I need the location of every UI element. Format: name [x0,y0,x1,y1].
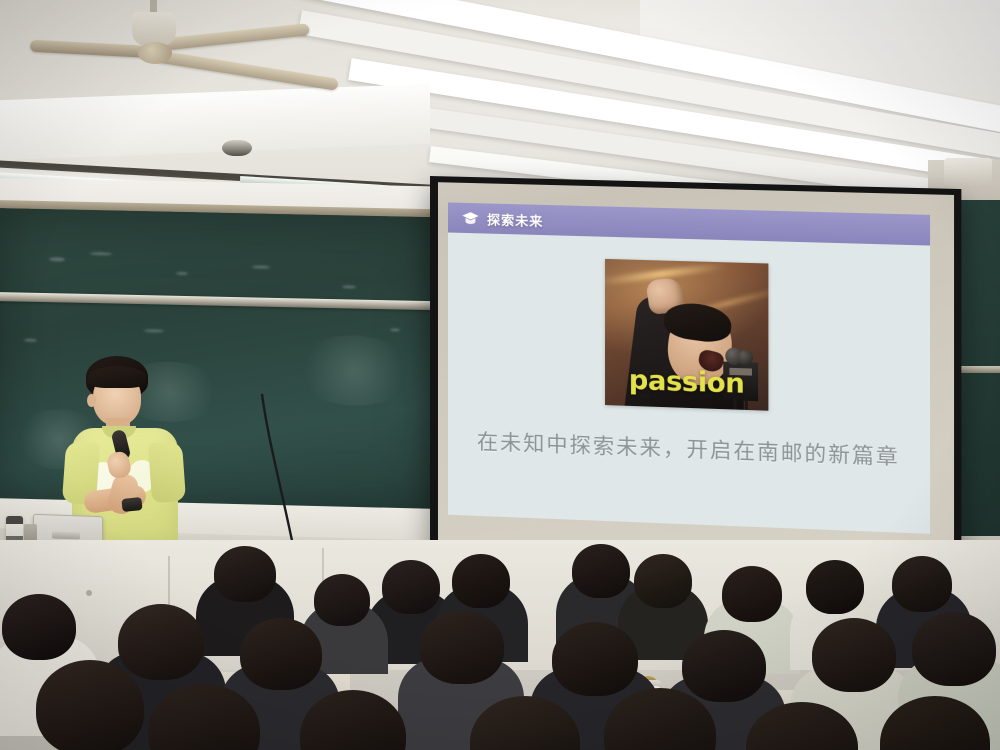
audience-member [2,594,76,660]
projection-screen: 探索未来 passion [430,176,961,584]
audience-member [452,554,510,608]
audience-member [36,660,144,750]
audience-member [118,604,204,680]
audience-member [812,618,896,692]
presentation-slide: 探索未来 passion [448,202,930,533]
audience-member [722,566,782,622]
audience [0,540,1000,750]
graduation-cap-icon [462,211,479,224]
slide-title: 探索未来 [487,209,543,230]
passion-overlay-text: passion [605,364,768,401]
audience-member [892,556,952,612]
audience-member [314,574,370,626]
audience-member [572,544,630,598]
audience-member [240,618,322,690]
screen-surface: 探索未来 passion [438,182,954,575]
lecture-hall-photo: 探索未来 passion [0,0,1000,750]
smoke-detector-icon [222,140,252,156]
slide-caption: 在未知中探索未来，开启在南邮的新篇章 [448,425,930,473]
wall-speaker [944,158,992,188]
wristwatch [121,497,142,512]
audience-member [420,610,504,684]
audience-member [912,612,996,686]
audience-member [806,560,864,614]
audience-member [214,546,276,602]
audience-member [552,622,638,696]
slide-photo: passion [605,259,768,411]
laptop-logo [52,532,80,540]
slide-header-bar: 探索未来 [448,202,930,245]
audience-member [682,630,766,702]
audience-member [382,560,440,614]
audience-member [634,554,692,608]
